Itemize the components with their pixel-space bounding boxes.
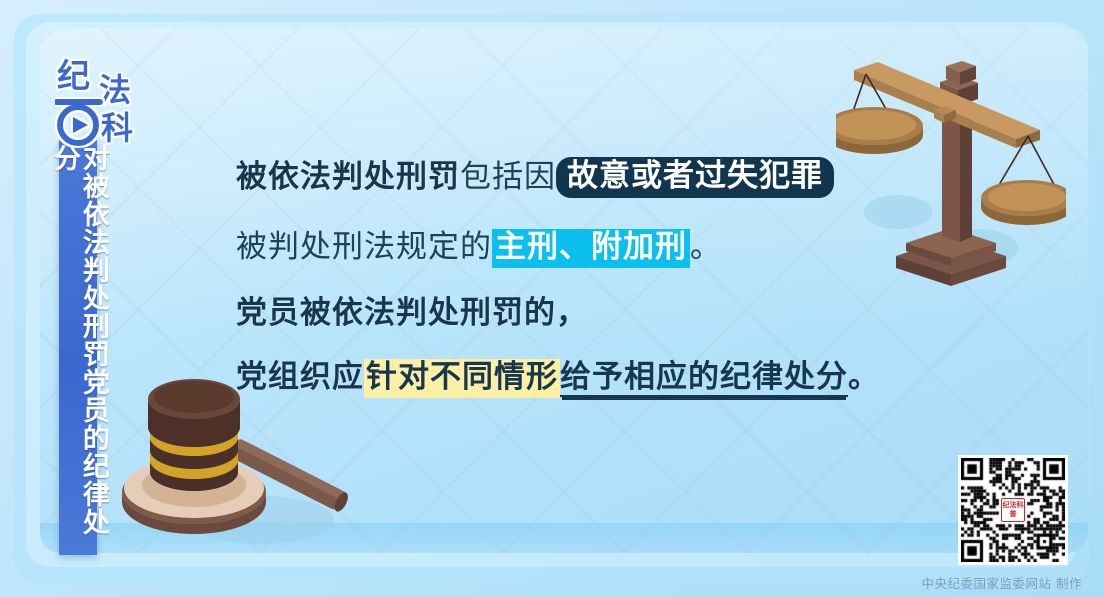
qr-seal: 纪法科普 [1001,498,1025,522]
line4-underlined: 给予相应的纪律处分 [560,362,848,397]
logo-char-fa: 法 [99,71,131,109]
line4-highlight-yellow: 针对不同情形 [364,359,560,398]
line3-seg1: 党员被依法判处刑罚的， [236,295,588,331]
line1-highlight-pill: 故意或者过失犯罪 [556,157,834,198]
text-line-3: 党员被依法判处刑罚的， [236,298,876,329]
line2-seg3: 。 [690,229,722,265]
brand-logo[interactable]: 纪 法 科 普 [55,55,151,150]
qr-center-logo: 纪法科普 [1000,497,1026,523]
text-line-2: 被判处刑法规定的主刑、附加刑。 [236,229,876,268]
line4-seg1: 党组织应 [236,359,364,395]
logo-char-ke: 科 [101,109,133,147]
line4-seg4: 。 [848,359,880,395]
text-line-1: 被依法判处刑罚包括因故意或者过失犯罪 [236,158,876,199]
vertical-title-text: 对被依法判处刑罚党员的纪律处分 [49,144,107,555]
line2-seg1: 被判处刑法规定的 [236,229,492,265]
line1-seg2: 包括因 [460,159,556,195]
line2-highlight-cyan: 主刑、附加刑 [492,229,690,268]
credit-text: 中央纪委国家监委网站 制作 [922,573,1082,592]
qr-code[interactable]: 纪法科普 [958,455,1068,565]
text-line-4: 党组织应针对不同情形给予相应的纪律处分。 [236,359,876,398]
main-text-block: 被依法判处刑罚包括因故意或者过失犯罪 被判处刑法规定的主刑、附加刑。 党员被依法… [236,158,876,398]
logo-char-ji: 纪 [57,56,90,95]
poster-canvas: 纪 法 科 普 对被依法判处刑罚党员的纪律处分 被依法判处刑罚包括因故意或者过失… [0,0,1104,597]
vertical-title-banner: 对被依法判处刑罚党员的纪律处分 [59,140,97,555]
line1-seg1: 被依法判处刑罚 [236,159,460,195]
